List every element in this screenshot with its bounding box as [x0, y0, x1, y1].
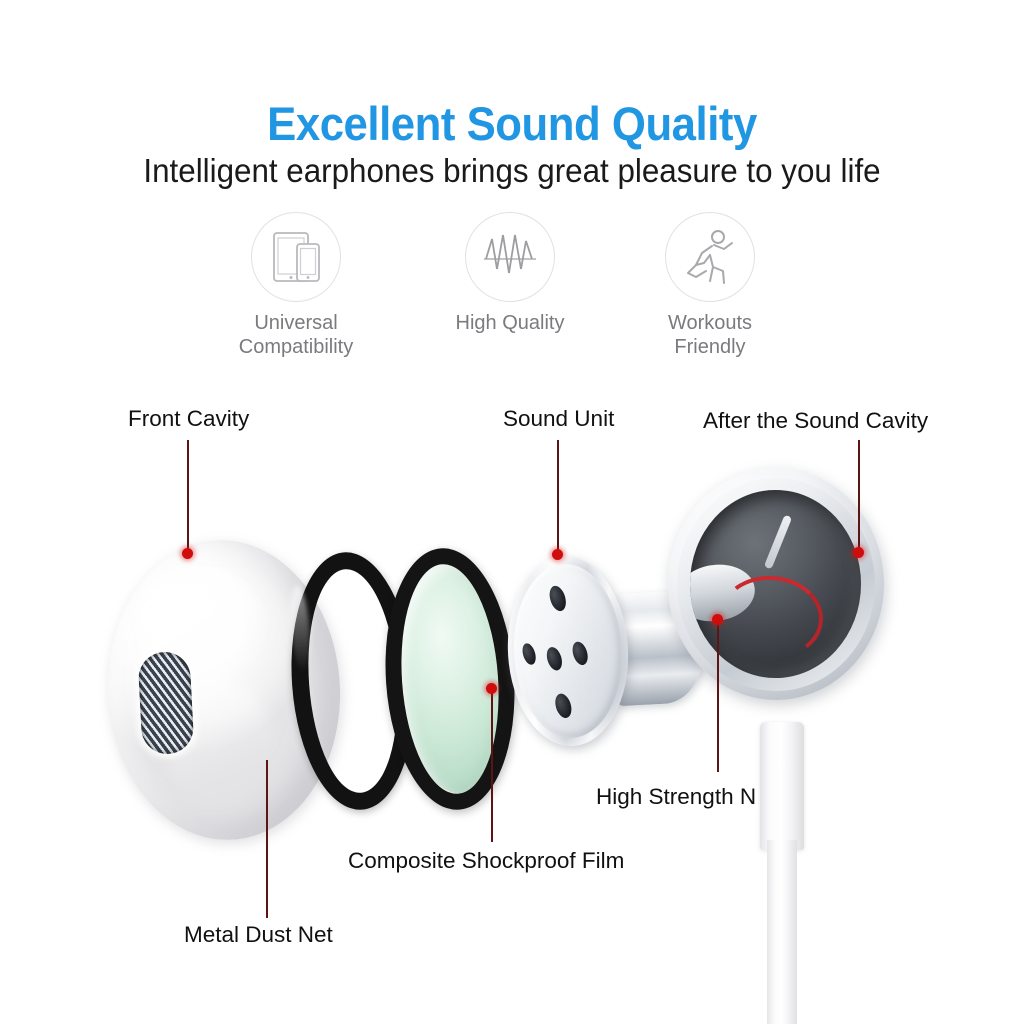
cavity-interior — [690, 490, 861, 678]
driver-vent-hole — [520, 641, 538, 666]
marker-dot-front-cavity — [182, 548, 193, 559]
feature-label-line2: Friendly — [674, 336, 745, 358]
feature-label: Universal Compatibility — [186, 311, 406, 360]
driver-vent-hole — [570, 640, 590, 667]
callout-metal-dust-net: Metal Dust Net — [184, 922, 333, 948]
leader-line-sound-unit — [557, 440, 559, 554]
callout-composite-shockproof-film: Composite Shockproof Film — [348, 848, 624, 874]
infographic-canvas: Excellent Sound Quality Intelligent earp… — [0, 0, 1024, 1024]
callout-sound-unit: Sound Unit — [503, 406, 614, 432]
feature-high-quality: High Quality — [400, 212, 620, 335]
callout-high-strength-wire: High Strength N — [594, 784, 758, 810]
leader-line-composite-shockproof-film — [491, 690, 493, 842]
leader-line-high-strength-wire — [717, 620, 719, 772]
feature-universal-compatibility: Universal Compatibility — [186, 212, 406, 360]
devices-icon — [251, 212, 341, 302]
running-person-icon — [665, 212, 755, 302]
leader-line-front-cavity — [187, 440, 189, 554]
driver-face — [510, 561, 627, 740]
marker-dot-sound-unit — [552, 549, 563, 560]
sound-unit-driver — [503, 553, 633, 749]
feature-label-line1: Universal — [254, 312, 337, 334]
leader-line-after-the-sound-cavity — [858, 440, 860, 552]
leader-line-metal-dust-net — [266, 760, 268, 918]
driver-vent-hole — [547, 584, 569, 613]
cable-cord — [767, 840, 797, 1024]
feature-label-line1: High Quality — [456, 312, 565, 334]
callout-front-cavity: Front Cavity — [128, 406, 249, 432]
driver-vent-hole — [552, 691, 574, 719]
marker-dot-composite-shockproof-film — [486, 683, 497, 694]
ring-highlight — [288, 585, 312, 671]
waveform-icon — [465, 212, 555, 302]
marker-dot-high-strength-wire — [712, 614, 723, 625]
metal-dust-net-mesh — [137, 651, 194, 756]
callout-after-the-sound-cavity: After the Sound Cavity — [703, 408, 928, 434]
feature-list: Universal Compatibility High Quality — [0, 212, 1024, 372]
cable-sleeve — [760, 722, 804, 850]
cavity-slot-highlight — [764, 515, 792, 570]
feature-label-line2: Compatibility — [239, 336, 353, 358]
page-title: Excellent Sound Quality — [36, 96, 988, 151]
feature-label: High Quality — [400, 311, 620, 335]
page-subtitle: Intelligent earphones brings great pleas… — [26, 152, 999, 190]
marker-dot-after-the-sound-cavity — [853, 547, 864, 558]
driver-vent-hole — [545, 645, 565, 672]
rear-sound-cavity — [668, 468, 884, 700]
feature-label-line1: Workouts — [668, 312, 752, 334]
feature-label: Workouts Friendly — [600, 311, 820, 360]
feature-workouts-friendly: Workouts Friendly — [600, 212, 820, 360]
